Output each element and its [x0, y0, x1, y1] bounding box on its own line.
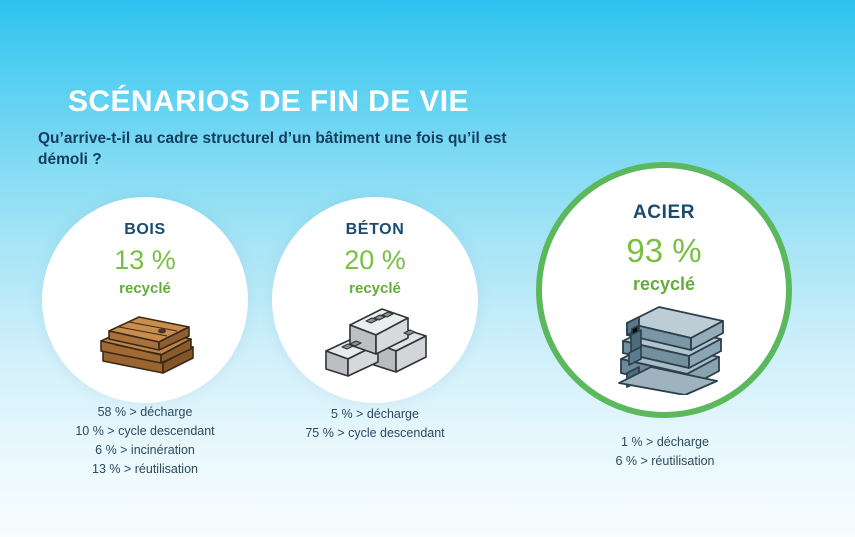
material-circle-bois[interactable]: BOIS 13 % recyclé	[42, 197, 248, 403]
stat-line: 6 % > incinération	[45, 441, 245, 460]
material-circle-acier[interactable]: ACIER 93 % recyclé	[536, 162, 792, 418]
stat-line: 58 % > décharge	[45, 403, 245, 422]
wood-planks-icon	[89, 305, 201, 377]
material-percent-bois: 13 %	[114, 247, 176, 274]
stat-line: 6 % > réutilisation	[565, 452, 765, 471]
material-recycled-label-bois: recyclé	[119, 280, 171, 297]
material-stats-acier: 1 % > décharge 6 % > réutilisation	[565, 433, 765, 471]
material-recycled-label-acier: recyclé	[633, 274, 695, 295]
material-stats-beton: 5 % > décharge 75 % > cycle descendant	[275, 405, 475, 443]
stat-line: 13 % > réutilisation	[45, 460, 245, 479]
infographic-canvas: SCÉNARIOS DE FIN DE VIE Qu’arrive-t-il a…	[0, 0, 855, 537]
stat-line: 75 % > cycle descendant	[275, 424, 475, 443]
material-name-acier: ACIER	[633, 202, 695, 224]
stat-line: 10 % > cycle descendant	[45, 422, 245, 441]
stat-line: 5 % > décharge	[275, 405, 475, 424]
stat-line: 1 % > décharge	[565, 433, 765, 452]
material-percent-beton: 20 %	[344, 247, 406, 274]
material-stats-bois: 58 % > décharge 10 % > cycle descendant …	[45, 403, 245, 479]
material-name-beton: BÉTON	[346, 221, 405, 239]
material-percent-acier: 93 %	[626, 234, 701, 267]
concrete-blocks-icon	[320, 299, 430, 377]
page-subtitle: Qu’arrive-t-il au cadre structurel d’un …	[38, 128, 508, 171]
material-name-bois: BOIS	[124, 221, 166, 239]
steel-beams-icon	[601, 295, 727, 395]
material-recycled-label-beton: recyclé	[349, 280, 401, 297]
page-title: SCÉNARIOS DE FIN DE VIE	[68, 85, 469, 119]
material-circle-beton[interactable]: BÉTON 20 % recyclé	[272, 197, 478, 403]
